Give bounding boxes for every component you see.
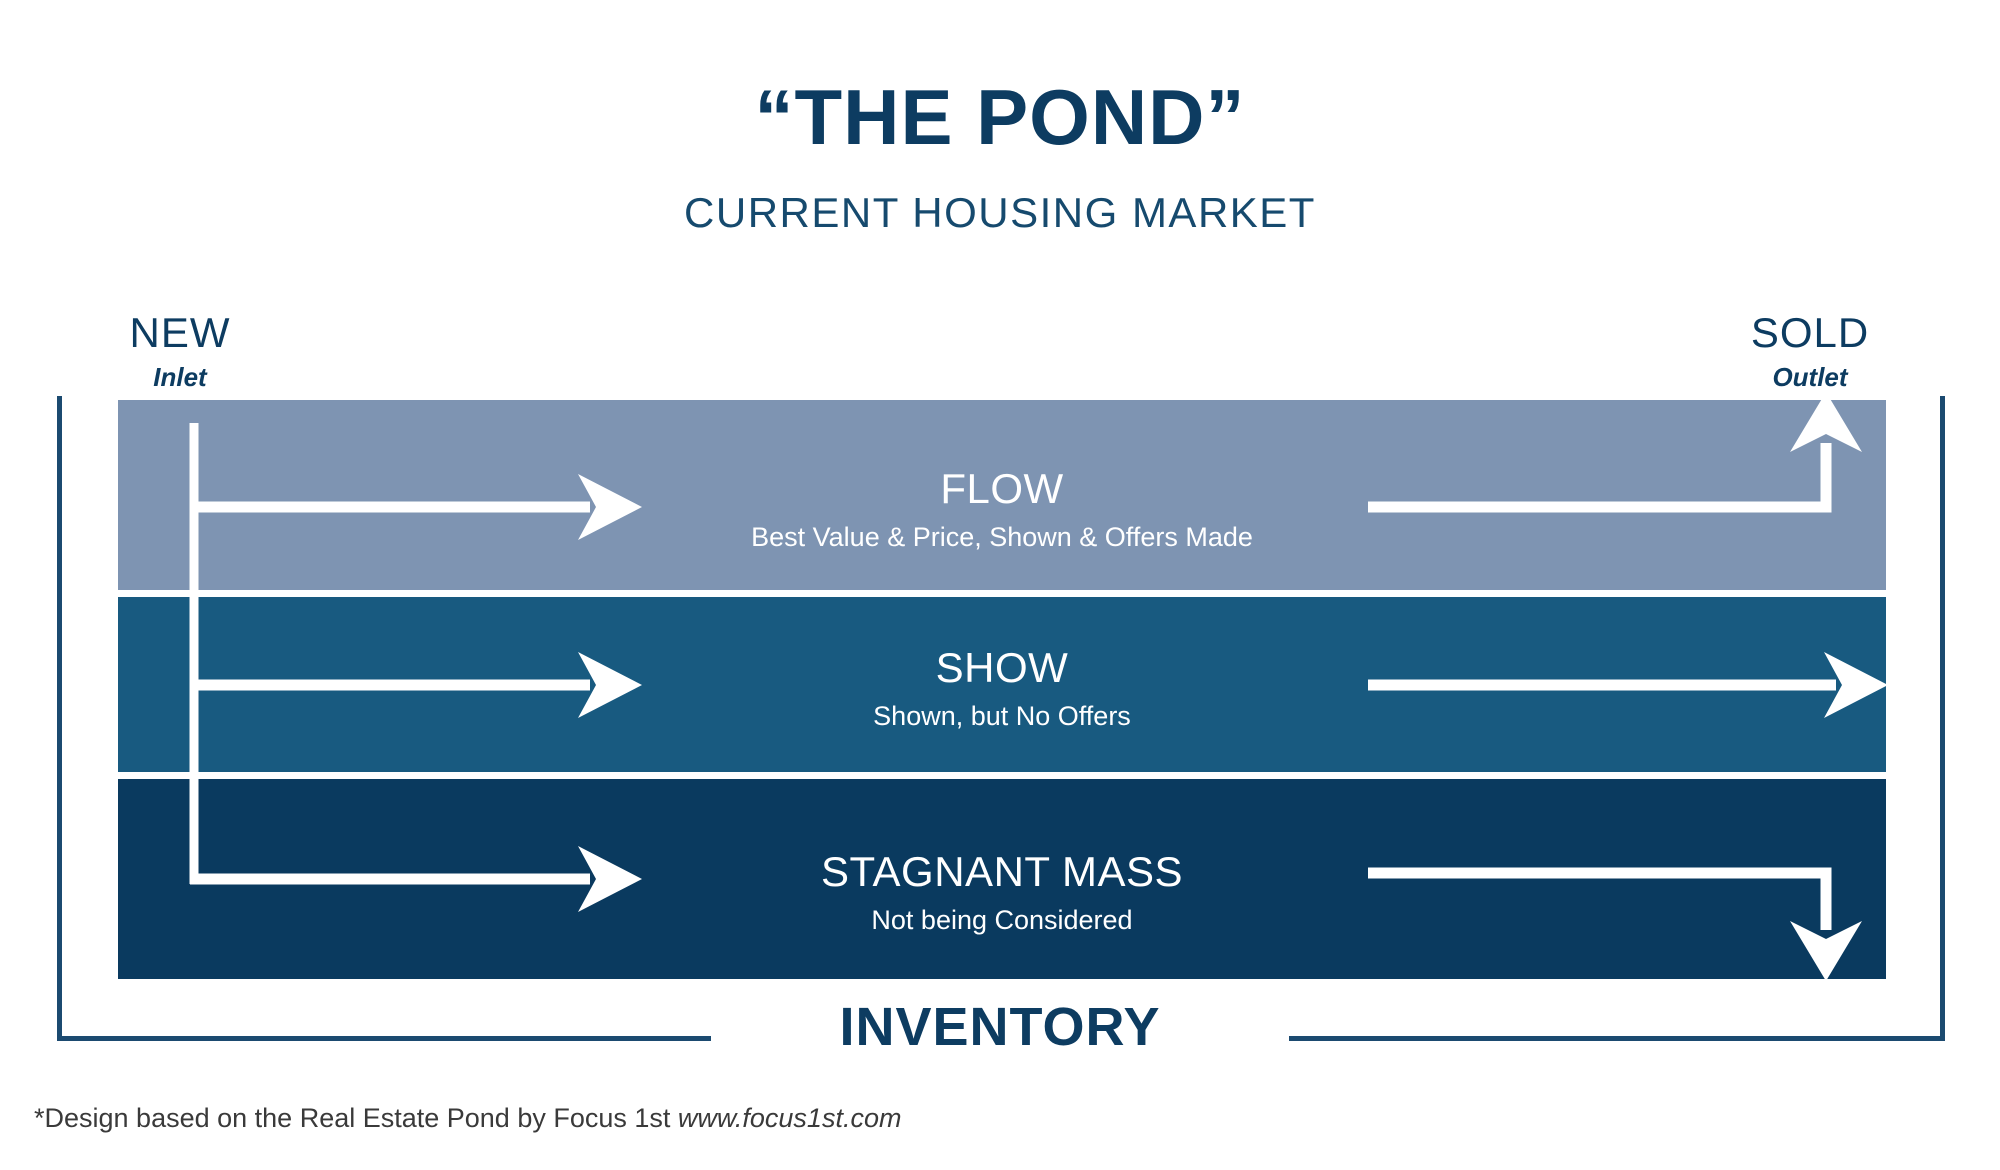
bracket-left-line — [57, 396, 62, 1041]
band-flow-text: FLOW Best Value & Price, Shown & Offers … — [118, 468, 1886, 551]
outlet-label-group: SOLD Outlet — [1680, 312, 1940, 390]
band-show-description: Shown, but No Offers — [118, 703, 1886, 730]
footnote-text: *Design based on the Real Estate Pond by… — [34, 1103, 678, 1133]
footnote-url: www.focus1st.com — [678, 1103, 902, 1133]
band-flow-description: Best Value & Price, Shown & Offers Made — [118, 524, 1886, 551]
band-stagnant-text: STAGNANT MASS Not being Considered — [118, 851, 1886, 934]
band-flow-title: FLOW — [118, 468, 1886, 510]
bracket-bottom-left-line — [57, 1036, 711, 1041]
inlet-label: NEW — [60, 312, 300, 354]
inventory-label: INVENTORY — [700, 1000, 1300, 1054]
outlet-label: SOLD — [1680, 312, 1940, 354]
band-stagnant-description: Not being Considered — [118, 907, 1886, 934]
page-subtitle: CURRENT HOUSING MARKET — [0, 192, 2000, 234]
band-stagnant: STAGNANT MASS Not being Considered — [118, 779, 1886, 979]
band-show: SHOW Shown, but No Offers — [118, 597, 1886, 772]
pond-infographic: “THE POND” CURRENT HOUSING MARKET NEW In… — [0, 0, 2000, 1170]
inlet-label-group: NEW Inlet — [60, 312, 300, 390]
outlet-sublabel: Outlet — [1680, 364, 1940, 390]
band-flow: FLOW Best Value & Price, Shown & Offers … — [118, 400, 1886, 590]
bracket-bottom-right-line — [1289, 1036, 1945, 1041]
footnote: *Design based on the Real Estate Pond by… — [34, 1105, 901, 1132]
band-show-title: SHOW — [118, 647, 1886, 689]
page-title: “THE POND” — [0, 78, 2000, 156]
band-show-text: SHOW Shown, but No Offers — [118, 647, 1886, 730]
inlet-sublabel: Inlet — [60, 364, 300, 390]
bracket-right-line — [1940, 396, 1945, 1041]
band-stagnant-title: STAGNANT MASS — [118, 851, 1886, 893]
